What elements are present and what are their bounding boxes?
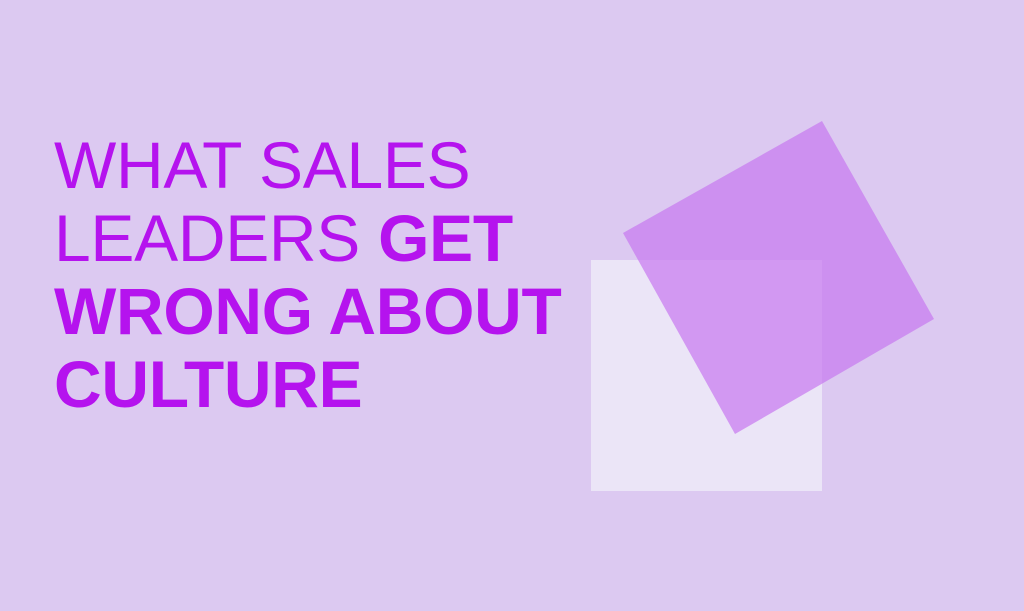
page-title: WHAT SALES LEADERS GET WRONG ABOUT CULTU… [54, 129, 674, 421]
headline-line-2: LEADERS GET [54, 202, 674, 275]
poster-canvas: WHAT SALES LEADERS GET WRONG ABOUT CULTU… [0, 0, 1024, 611]
headline-line-2-bold: GET [378, 201, 513, 275]
headline-line-4-bold: CULTURE [54, 347, 362, 421]
headline-line-3-bold: WRONG ABOUT [54, 274, 562, 348]
headline-line-2-regular: LEADERS [54, 201, 378, 275]
headline-line-3: WRONG ABOUT [54, 275, 674, 348]
headline-line-4: CULTURE [54, 348, 674, 421]
headline-line-1-regular: WHAT SALES [54, 128, 470, 202]
headline-line-1: WHAT SALES [54, 129, 674, 202]
